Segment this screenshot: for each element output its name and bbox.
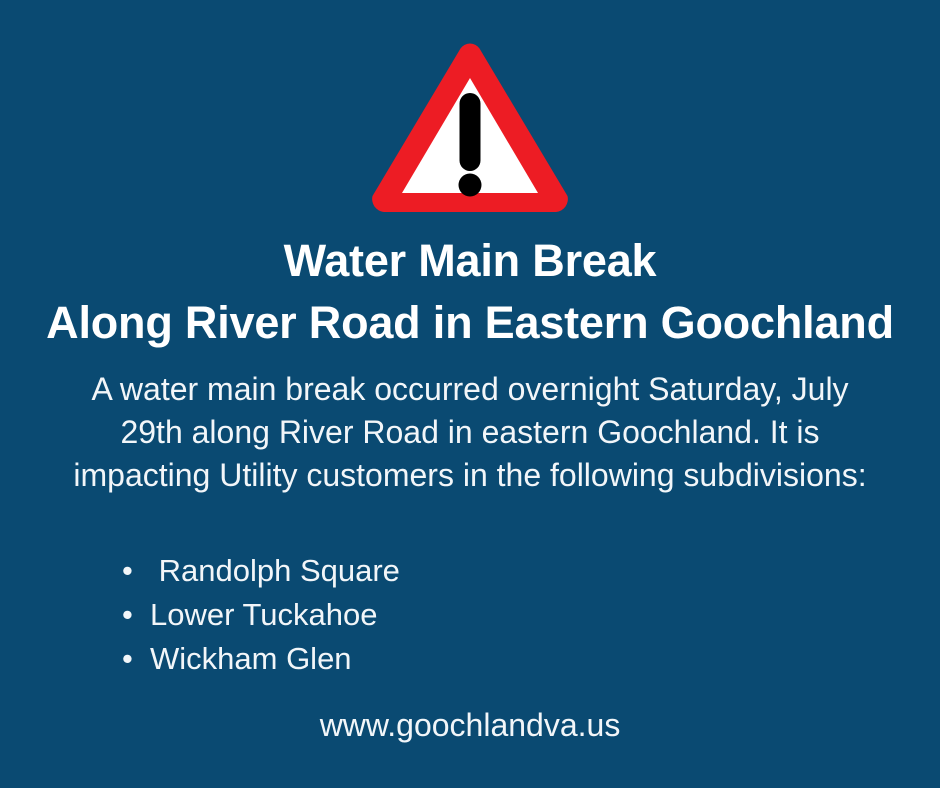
warning-icon-container [0,38,940,220]
affected-subdivisions-list: • Randolph Square • Lower Tuckahoe • Wic… [122,549,400,681]
warning-triangle-exclamation-icon [368,38,572,214]
notice-body-paragraph: A water main break occurred overnight Sa… [70,368,870,497]
subdivision-label: Randolph Square [150,549,400,593]
water-main-break-notice-poster: Water Main Break Along River Road in Eas… [0,0,940,788]
website-url[interactable]: www.goochlandva.us [0,703,940,747]
subdivision-label: Lower Tuckahoe [150,593,377,637]
subdivision-label: Wickham Glen [150,637,352,681]
headline-line-1: Water Main Break [0,230,940,292]
bullet-marker-icon: • [122,593,150,637]
list-item: • Lower Tuckahoe [122,593,400,637]
bullet-marker-icon: • [122,549,150,593]
page-title: Water Main Break Along River Road in Eas… [0,230,940,354]
headline-line-2: Along River Road in Eastern Goochland [0,292,940,354]
list-item: • Randolph Square [122,549,400,593]
list-item: • Wickham Glen [122,637,400,681]
bullet-marker-icon: • [122,637,150,681]
